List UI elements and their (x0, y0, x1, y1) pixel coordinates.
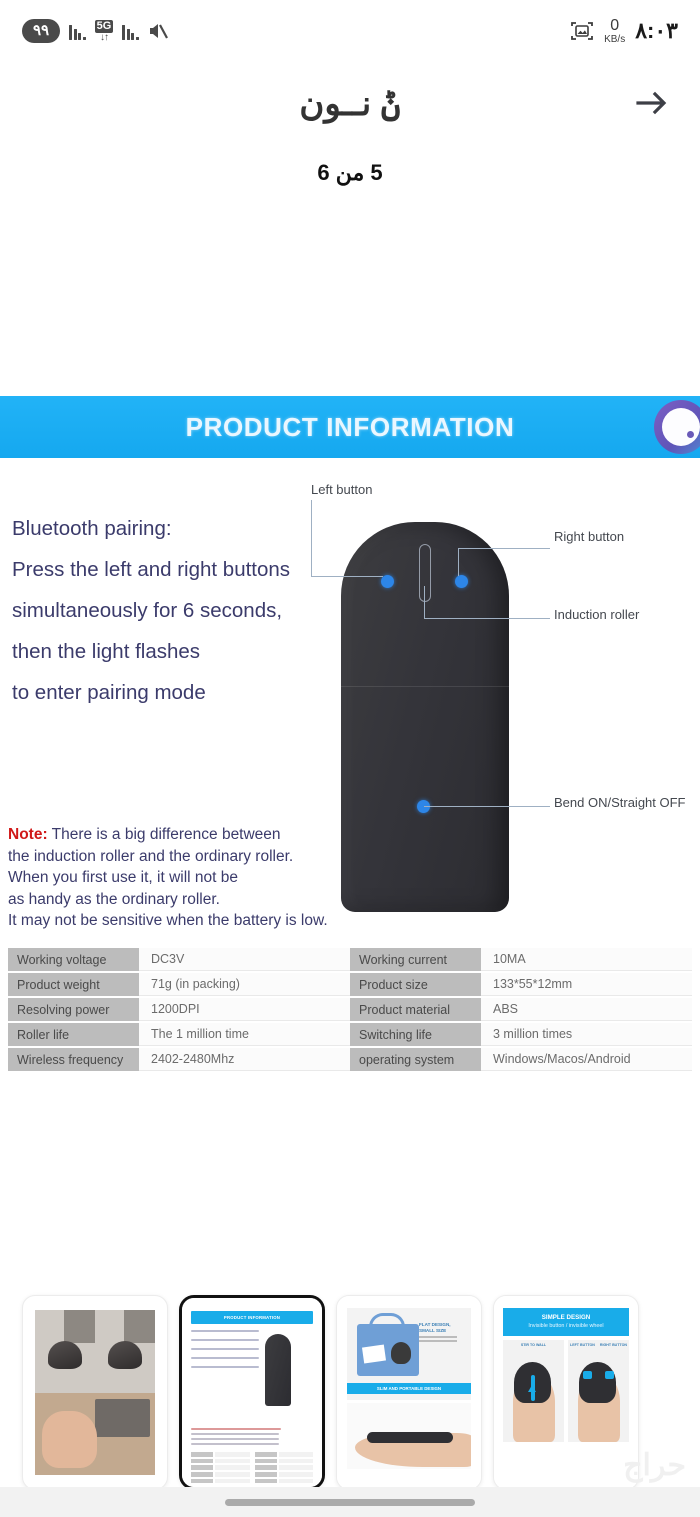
spec-key: Switching life (350, 1023, 481, 1046)
watermark: حراج (623, 1448, 686, 1483)
note-line: It may not be sensitive when the battery… (8, 910, 356, 932)
spec-value: The 1 million time (139, 1023, 350, 1046)
mini-banner: SLIM AND PORTABLE DESIGN (347, 1383, 471, 1394)
status-bar-right: 0 KB/s ٨:٠٣ (570, 18, 678, 45)
collage-photo (35, 1393, 155, 1476)
status-bar: ٩٩ 5G ↓↑ 0 KB/s ٨:٠٣ (0, 0, 700, 62)
signal-bars-icon (69, 22, 86, 40)
spec-key: operating system (350, 1048, 481, 1071)
pane-label: LEFT BUTTON (570, 1343, 595, 1347)
5g-icon: 5G ↓↑ (95, 20, 114, 43)
table-row: Roller life The 1 million time (8, 1023, 350, 1046)
leader-roller-h (424, 618, 550, 619)
collage-photo (35, 1310, 95, 1393)
banner-title: PRODUCT INFORMATION (186, 412, 515, 443)
spec-key: Wireless frequency (8, 1048, 139, 1071)
pairing-line: Press the left and right buttons (12, 549, 352, 590)
bag-photo: FLAT DESIGN, SMALL SIZE SLIM AND PORTABL… (347, 1308, 471, 1400)
product-image-viewer[interactable]: PRODUCT INFORMATION Bluetooth pairing: P… (0, 396, 700, 1072)
spec-table-right: Working current 10MA Product size 133*55… (350, 948, 692, 1073)
leader-bend-h (424, 806, 550, 807)
pairing-line: simultaneously for 6 seconds, (12, 590, 352, 631)
leader-left-button-h (311, 576, 383, 577)
network-speed-value: 0 (610, 18, 619, 34)
spec-value: 133*55*12mm (481, 973, 692, 996)
table-row: Working current 10MA (350, 948, 692, 971)
pairing-line: Bluetooth pairing: (12, 508, 352, 549)
spec-key: Working voltage (8, 948, 139, 971)
spec-value: Windows/Macos/Android (481, 1048, 692, 1071)
table-row: Working voltage DC3V (8, 948, 350, 971)
pairing-line: to enter pairing mode (12, 672, 352, 713)
callout-left-button: Left button (311, 482, 372, 497)
table-row: Resolving power 1200DPI (8, 998, 350, 1021)
photo-collage-thumbnail[interactable] (22, 1295, 168, 1490)
mini-caption: FLAT DESIGN, SMALL SIZE (419, 1322, 467, 1342)
scroll-demo-pane: STIR TO WALL (503, 1340, 564, 1442)
network-speed-unit: KB/s (604, 35, 625, 45)
mute-icon (148, 22, 168, 40)
battery-badge: ٩٩ (22, 19, 60, 43)
note-line: the induction roller and the ordinary ro… (8, 846, 356, 868)
table-row: Product material ABS (350, 998, 692, 1021)
note-label: Note: (8, 826, 48, 843)
status-bar-left: ٩٩ 5G ↓↑ (22, 19, 168, 43)
mini-mouse-illustration (265, 1334, 291, 1406)
updown-arrows-icon: ↓↑ (100, 33, 108, 43)
pairing-line: then the light flashes (12, 631, 352, 672)
mini-note-lines (191, 1428, 313, 1445)
note-line: as handy as the ordinary roller. (8, 889, 356, 911)
mini-header: SIMPLE DESIGN Invisible button / invisib… (503, 1308, 629, 1336)
buttons-demo-pane: LEFT BUTTON RIGHT BUTTON (568, 1340, 629, 1442)
network-speed: 0 KB/s (604, 18, 625, 45)
slim-portable-design-thumbnail[interactable]: FLAT DESIGN, SMALL SIZE SLIM AND PORTABL… (336, 1295, 482, 1490)
mini-title: SIMPLE DESIGN (506, 1314, 626, 1321)
pane-label: STIR TO WALL (503, 1343, 564, 1347)
spec-value: 3 million times (481, 1023, 692, 1046)
app-header: ݨ نــون (0, 62, 700, 144)
spec-key: Product weight (8, 973, 139, 996)
5g-label: 5G (95, 20, 114, 33)
spec-key: Working current (350, 948, 481, 971)
spec-value: 10MA (481, 948, 692, 971)
leader-right-button-v (458, 548, 459, 576)
product-information-thumbnail[interactable]: PRODUCT INFORMATION (179, 1295, 325, 1490)
leader-right-button-h (458, 548, 550, 549)
callout-induction-roller: Induction roller (554, 607, 639, 622)
spec-table-left: Working voltage DC3V Product weight 71g … (8, 948, 350, 1073)
spec-key: Resolving power (8, 998, 139, 1021)
leader-left-button (311, 500, 312, 576)
note-line: There is a big difference between (48, 826, 281, 843)
note-block: Note: There is a big difference between … (8, 824, 356, 932)
circle-badge-icon (654, 400, 700, 454)
mini-banner-title: SLIM AND PORTABLE DESIGN (377, 1386, 441, 1391)
leader-roller-v (424, 586, 425, 618)
body-seam (341, 686, 509, 687)
spec-value: DC3V (139, 948, 350, 971)
callout-bend-on: Bend ON/Straight OFF (554, 795, 686, 810)
mini-text-lines (191, 1330, 259, 1368)
table-row: operating system Windows/Macos/Android (350, 1048, 692, 1071)
home-indicator[interactable] (225, 1499, 475, 1506)
table-row: Wireless frequency 2402-2480Mhz (8, 1048, 350, 1071)
spec-value: 71g (in packing) (139, 973, 350, 996)
screenshot-scan-icon (570, 20, 594, 42)
specification-table: Working voltage DC3V Product weight 71g … (8, 948, 692, 1073)
image-counter: 5 من 6 (0, 160, 700, 186)
table-row: Product size 133*55*12mm (350, 973, 692, 996)
page-title: ݨ نــون (0, 83, 700, 124)
spec-key: Product material (350, 998, 481, 1021)
collage-photo (95, 1310, 155, 1393)
thumbnail-strip[interactable]: PRODUCT INFORMATION FLA (0, 1290, 700, 1495)
mini-subtitle: Invisible button / invisible wheel (506, 1323, 626, 1329)
note-line: When you first use it, it will not be (8, 867, 356, 889)
system-navigation-bar (0, 1487, 700, 1517)
clock: ٨:٠٣ (635, 18, 678, 44)
table-row: Switching life 3 million times (350, 1023, 692, 1046)
right-button-dot (455, 575, 468, 588)
spec-value: ABS (481, 998, 692, 1021)
mouse-illustration (341, 522, 509, 912)
callout-right-button: Right button (554, 529, 624, 544)
mini-banner: PRODUCT INFORMATION (191, 1311, 313, 1324)
spec-value: 2402-2480Mhz (139, 1048, 350, 1071)
spec-key: Product size (350, 973, 481, 996)
mini-spec-table (191, 1452, 313, 1485)
pairing-instructions: Bluetooth pairing: Press the left and ri… (12, 508, 352, 713)
mini-caption-title: FLAT DESIGN, SMALL SIZE (419, 1322, 467, 1334)
mini-banner-title: PRODUCT INFORMATION (224, 1315, 280, 1320)
hand-photo (347, 1403, 471, 1469)
spec-value: 1200DPI (139, 998, 350, 1021)
scroll-slot (419, 544, 431, 602)
product-information-banner: PRODUCT INFORMATION (0, 396, 700, 458)
pane-label: RIGHT BUTTON (600, 1343, 627, 1347)
table-row: Product weight 71g (in packing) (8, 973, 350, 996)
signal-bars-icon-secondary (122, 22, 139, 40)
spec-key: Roller life (8, 1023, 139, 1046)
simple-design-thumbnail[interactable]: SIMPLE DESIGN Invisible button / invisib… (493, 1295, 639, 1490)
